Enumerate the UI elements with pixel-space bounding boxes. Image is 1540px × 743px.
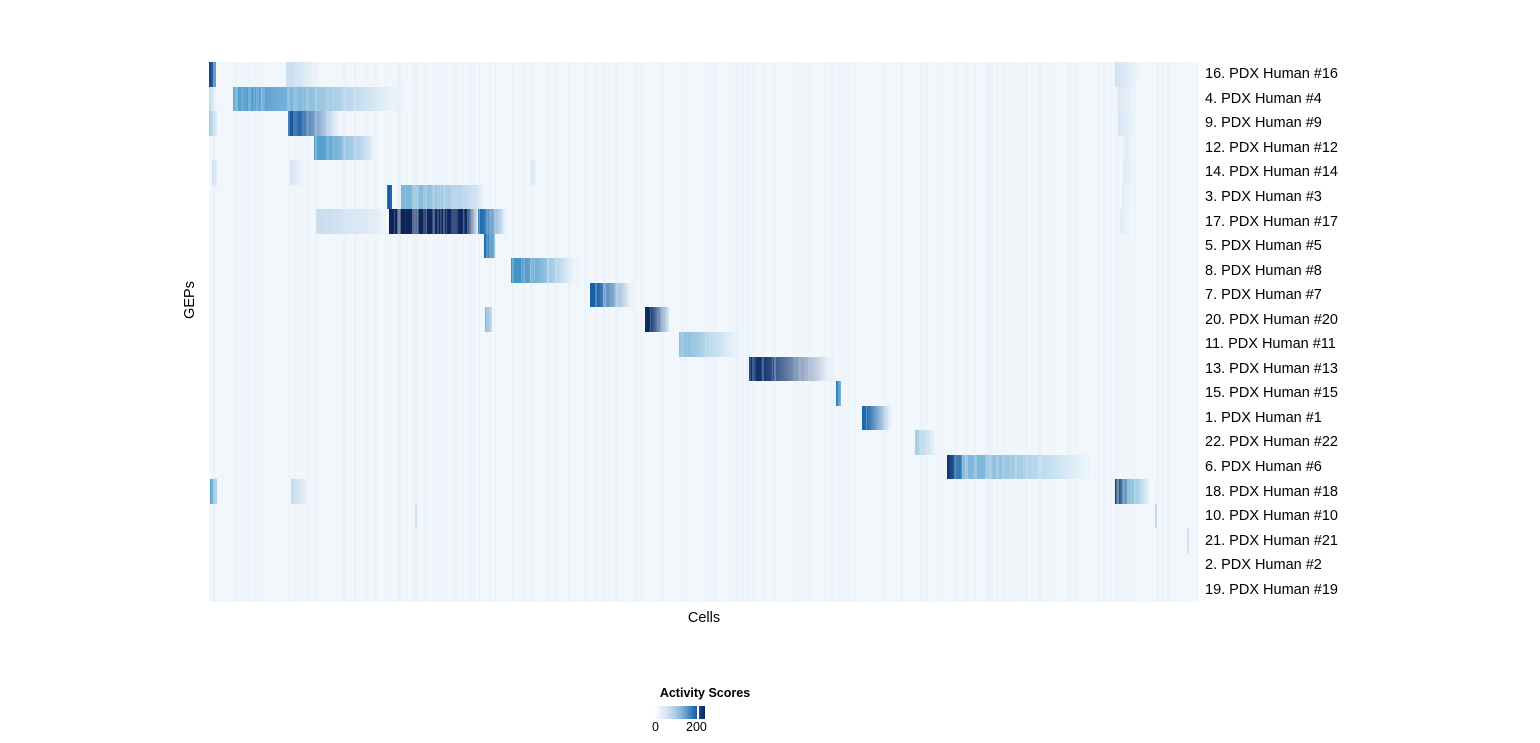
colorbar-title: Activity Scores	[600, 686, 810, 700]
heatmap-row	[209, 136, 1199, 161]
row-label-3: 9. PDX Human #9	[1205, 116, 1322, 131]
heatmap-row-background	[209, 357, 1199, 382]
heatmap-activity-block	[212, 160, 218, 185]
heatmap-activity-block	[1129, 479, 1155, 504]
heatmap-row	[209, 528, 1199, 553]
heatmap-activity-block	[210, 479, 217, 504]
heatmap-row	[209, 62, 1199, 87]
heatmap-row-background	[209, 307, 1199, 332]
heatmap-activity-block	[389, 209, 478, 234]
heatmap-row	[209, 504, 1199, 529]
row-label-17: 6. PDX Human #6	[1205, 460, 1322, 475]
heatmap-row-background	[209, 553, 1199, 578]
heatmap-activity-block	[836, 381, 841, 406]
heatmap-activity-block	[1123, 160, 1135, 185]
heatmap-row	[209, 160, 1199, 185]
heatmap-row	[209, 332, 1199, 357]
heatmap-row-background	[209, 258, 1199, 283]
heatmap-row	[209, 455, 1199, 480]
heatmap-row-background	[209, 283, 1199, 308]
row-label-list: 16. PDX Human #164. PDX Human #49. PDX H…	[1205, 62, 1535, 602]
heatmap-activity-block	[749, 357, 840, 382]
row-label-22: 19. PDX Human #19	[1205, 583, 1338, 598]
heatmap-activity-block	[485, 307, 492, 332]
heatmap-row-background	[209, 234, 1199, 259]
heatmap-row	[209, 357, 1199, 382]
heatmap-activity-block	[286, 62, 322, 87]
heatmap-row-background	[209, 111, 1199, 136]
heatmap-row	[209, 283, 1199, 308]
heatmap-activity-block	[1115, 62, 1139, 87]
heatmap-activity-block	[209, 87, 214, 112]
row-label-4: 12. PDX Human #12	[1205, 141, 1338, 156]
heatmap-figure: GEPs Cells 16. PDX Human #164. PDX Human…	[0, 0, 1540, 743]
heatmap-activity-block	[1120, 209, 1132, 234]
colorbar-tick-label-min: 0	[652, 720, 659, 734]
heatmap-activity-block	[1115, 479, 1129, 504]
row-label-20: 21. PDX Human #21	[1205, 534, 1338, 549]
heatmap-activity-block	[401, 185, 485, 210]
row-label-1: 16. PDX Human #16	[1205, 67, 1338, 82]
heatmap-row-background	[209, 430, 1199, 455]
row-label-6: 3. PDX Human #3	[1205, 190, 1322, 205]
heatmap-row	[209, 87, 1199, 112]
row-label-7: 17. PDX Human #17	[1205, 215, 1338, 230]
heatmap-activity-block	[209, 111, 217, 136]
heatmap-row-background	[209, 381, 1199, 406]
heatmap-activity-block	[484, 234, 495, 259]
heatmap-activity-block	[387, 185, 392, 210]
row-label-11: 20. PDX Human #20	[1205, 313, 1338, 328]
heatmap-activity-block	[590, 283, 635, 308]
heatmap-row-background	[209, 160, 1199, 185]
colorbar-legend: Activity Scores 0 200	[600, 686, 820, 741]
row-label-13: 13. PDX Human #13	[1205, 362, 1338, 377]
heatmap-activity-block	[1118, 111, 1138, 136]
heatmap-activity-block	[962, 455, 1111, 480]
heatmap-row-background	[209, 406, 1199, 431]
heatmap-row-background	[209, 479, 1199, 504]
heatmap-activity-block	[862, 406, 894, 431]
heatmap-activity-block	[1118, 87, 1138, 112]
heatmap-row	[209, 209, 1199, 234]
heatmap-row-background	[209, 62, 1199, 87]
heatmap-activity-block	[947, 455, 963, 480]
row-label-2: 4. PDX Human #4	[1205, 92, 1322, 107]
row-label-12: 11. PDX Human #11	[1205, 337, 1336, 352]
heatmap-activity-block	[511, 258, 582, 283]
heatmap-activity-block	[290, 160, 303, 185]
row-label-14: 15. PDX Human #15	[1205, 386, 1338, 401]
heatmap-activity-block	[316, 209, 385, 234]
y-axis-label: GEPs	[182, 270, 198, 330]
heatmap-activity-block	[1125, 136, 1133, 161]
row-label-21: 2. PDX Human #2	[1205, 558, 1322, 573]
heatmap-activity-block	[314, 136, 375, 161]
heatmap-activity-block	[415, 504, 417, 529]
row-label-19: 10. PDX Human #10	[1205, 509, 1338, 524]
row-label-9: 8. PDX Human #8	[1205, 264, 1322, 279]
heatmap-activity-block	[531, 160, 537, 185]
heatmap-row-background	[209, 185, 1199, 210]
heatmap-activity-block	[478, 209, 510, 234]
row-label-18: 18. PDX Human #18	[1205, 485, 1338, 500]
heatmap-row	[209, 185, 1199, 210]
row-label-16: 22. PDX Human #22	[1205, 435, 1338, 450]
heatmap-row-background	[209, 504, 1199, 529]
heatmap-row	[209, 577, 1199, 602]
heatmap-activity-block	[209, 62, 216, 87]
heatmap-activity-block	[1155, 504, 1157, 529]
heatmap-plot-area[interactable]	[209, 62, 1199, 602]
heatmap-row	[209, 381, 1199, 406]
heatmap-row	[209, 553, 1199, 578]
heatmap-row	[209, 430, 1199, 455]
heatmap-row	[209, 111, 1199, 136]
row-label-15: 1. PDX Human #1	[1205, 411, 1322, 426]
colorbar-tick-label-max: 200	[686, 720, 707, 734]
heatmap-activity-block	[291, 479, 306, 504]
heatmap-activity-block	[233, 87, 411, 112]
heatmap-row	[209, 479, 1199, 504]
heatmap-row	[209, 258, 1199, 283]
colorbar-tick-mark	[697, 706, 699, 719]
row-label-5: 14. PDX Human #14	[1205, 165, 1338, 180]
heatmap-activity-block	[288, 111, 339, 136]
heatmap-row-background	[209, 577, 1199, 602]
heatmap-row-background	[209, 528, 1199, 553]
heatmap-row	[209, 307, 1199, 332]
x-axis-label: Cells	[209, 610, 1199, 626]
heatmap-row	[209, 234, 1199, 259]
heatmap-activity-block	[1187, 528, 1189, 553]
heatmap-activity-block	[915, 430, 935, 455]
row-label-10: 7. PDX Human #7	[1205, 288, 1322, 303]
heatmap-row	[209, 406, 1199, 431]
heatmap-activity-block	[1122, 185, 1132, 210]
heatmap-activity-block	[645, 307, 671, 332]
row-label-8: 5. PDX Human #5	[1205, 239, 1322, 254]
heatmap-activity-block	[679, 332, 742, 357]
